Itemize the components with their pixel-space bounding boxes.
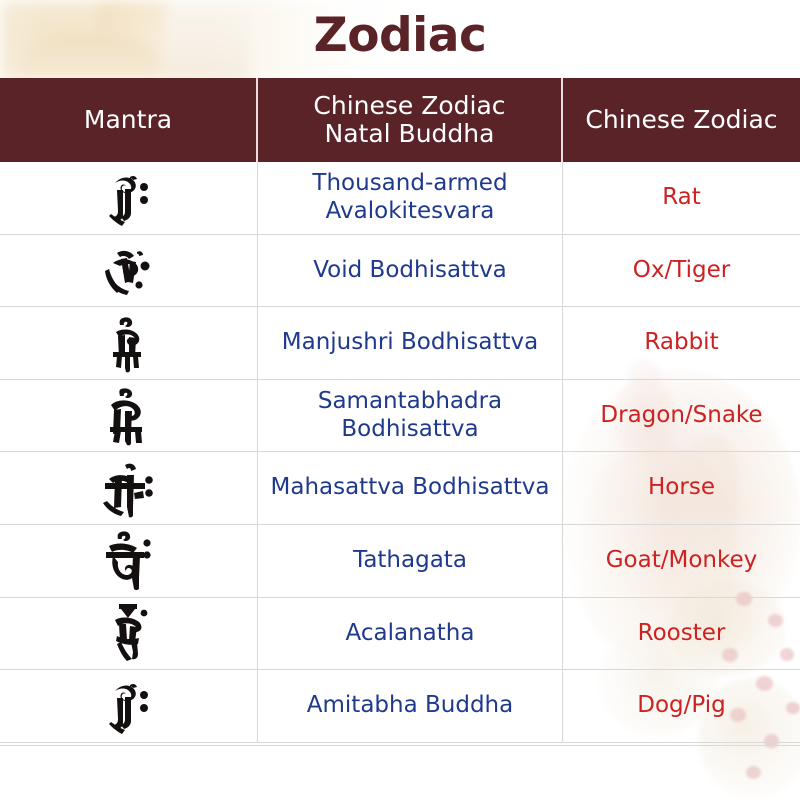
zodiac-cell: Goat/Monkey (563, 525, 800, 597)
column-header-natal-buddha-line1: Chinese Zodiac (313, 91, 505, 120)
natal-buddha-text: Acalanatha (346, 620, 475, 648)
natal-buddha-line1: Thousand-armed (312, 170, 507, 196)
column-header-natal-buddha-line2: Natal Buddha (325, 119, 495, 148)
column-header-mantra: Mantra (0, 78, 258, 162)
table-row: Thousand-armed Avalokitesvara Rat (0, 162, 800, 235)
zodiac-cell: Rooster (563, 598, 800, 670)
siddham-seed-syllable-hrih-2-icon (97, 675, 161, 737)
natal-buddha-cell: Acalanatha (258, 598, 563, 670)
siddham-seed-syllable-tram-icon (97, 239, 161, 301)
zodiac-text: Horse (648, 474, 715, 502)
natal-buddha-text: Mahasattva Bodhisattva (271, 474, 550, 502)
table-row: Amitabha Buddha Dog/Pig (0, 670, 800, 743)
page-title: Zodiac (0, 8, 800, 63)
zodiac-cell: Rat (563, 162, 800, 234)
table-header-row: Mantra Chinese Zodiac Natal Buddha Chine… (0, 78, 800, 162)
natal-buddha-cell: Void Bodhisattva (258, 235, 563, 307)
table-row: Void Bodhisattva Ox/Tiger (0, 235, 800, 308)
mantra-cell (0, 380, 258, 452)
natal-buddha-text: Samantabhadra Bodhisattva (318, 388, 502, 443)
zodiac-poster: Zodiac Mantra Chinese Zodiac Natal Buddh… (0, 0, 800, 800)
table-row: Manjushri Bodhisattva Rabbit (0, 307, 800, 380)
zodiac-cell: Ox/Tiger (563, 235, 800, 307)
column-header-natal-buddha-label: Chinese Zodiac Natal Buddha (313, 92, 505, 148)
zodiac-text: Dragon/Snake (600, 402, 762, 430)
siddham-seed-syllable-sa-icon (97, 457, 161, 519)
natal-buddha-text: Void Bodhisattva (313, 257, 507, 285)
column-header-natal-buddha: Chinese Zodiac Natal Buddha (258, 78, 563, 162)
mantra-cell (0, 235, 258, 307)
table-row: Acalanatha Rooster (0, 598, 800, 671)
natal-buddha-cell: Manjushri Bodhisattva (258, 307, 563, 379)
siddham-seed-syllable-hrih-icon (97, 167, 161, 229)
natal-buddha-text: Amitabha Buddha (307, 692, 513, 720)
zodiac-cell: Rabbit (563, 307, 800, 379)
natal-buddha-line1: Samantabhadra (318, 388, 502, 414)
column-header-chinese-zodiac-label: Chinese Zodiac (585, 106, 777, 134)
natal-buddha-text: Thousand-armed Avalokitesvara (312, 170, 507, 225)
natal-buddha-line2: Avalokitesvara (326, 198, 495, 224)
table-bottom-border (0, 745, 800, 746)
siddham-seed-syllable-am-icon (97, 385, 161, 447)
natal-buddha-cell: Tathagata (258, 525, 563, 597)
zodiac-text: Rabbit (644, 329, 718, 357)
mantra-cell (0, 307, 258, 379)
mantra-cell (0, 452, 258, 524)
siddham-seed-syllable-vam-icon (97, 530, 161, 592)
zodiac-text: Dog/Pig (637, 692, 726, 720)
zodiac-cell: Dog/Pig (563, 670, 800, 742)
siddham-seed-syllable-man-icon (97, 312, 161, 374)
mantra-cell (0, 162, 258, 234)
mantra-cell (0, 525, 258, 597)
zodiac-cell: Horse (563, 452, 800, 524)
zodiac-table: Mantra Chinese Zodiac Natal Buddha Chine… (0, 78, 800, 743)
table-row: Samantabhadra Bodhisattva Dragon/Snake (0, 380, 800, 453)
natal-buddha-cell: Samantabhadra Bodhisattva (258, 380, 563, 452)
siddham-seed-syllable-hamm-icon (97, 602, 161, 664)
natal-buddha-text: Manjushri Bodhisattva (282, 329, 538, 357)
column-header-mantra-label: Mantra (84, 106, 172, 134)
zodiac-text: Goat/Monkey (606, 547, 758, 575)
natal-buddha-cell: Thousand-armed Avalokitesvara (258, 162, 563, 234)
zodiac-text: Rat (662, 184, 701, 212)
natal-buddha-text: Tathagata (353, 547, 467, 575)
natal-buddha-cell: Amitabha Buddha (258, 670, 563, 742)
zodiac-cell: Dragon/Snake (563, 380, 800, 452)
natal-buddha-line2: Bodhisattva (341, 416, 478, 442)
table-row: Mahasattva Bodhisattva Horse (0, 452, 800, 525)
mantra-cell (0, 598, 258, 670)
table-row: Tathagata Goat/Monkey (0, 525, 800, 598)
zodiac-text: Rooster (638, 620, 726, 648)
mantra-cell (0, 670, 258, 742)
natal-buddha-cell: Mahasattva Bodhisattva (258, 452, 563, 524)
column-header-chinese-zodiac: Chinese Zodiac (563, 78, 800, 162)
zodiac-text: Ox/Tiger (633, 257, 730, 285)
